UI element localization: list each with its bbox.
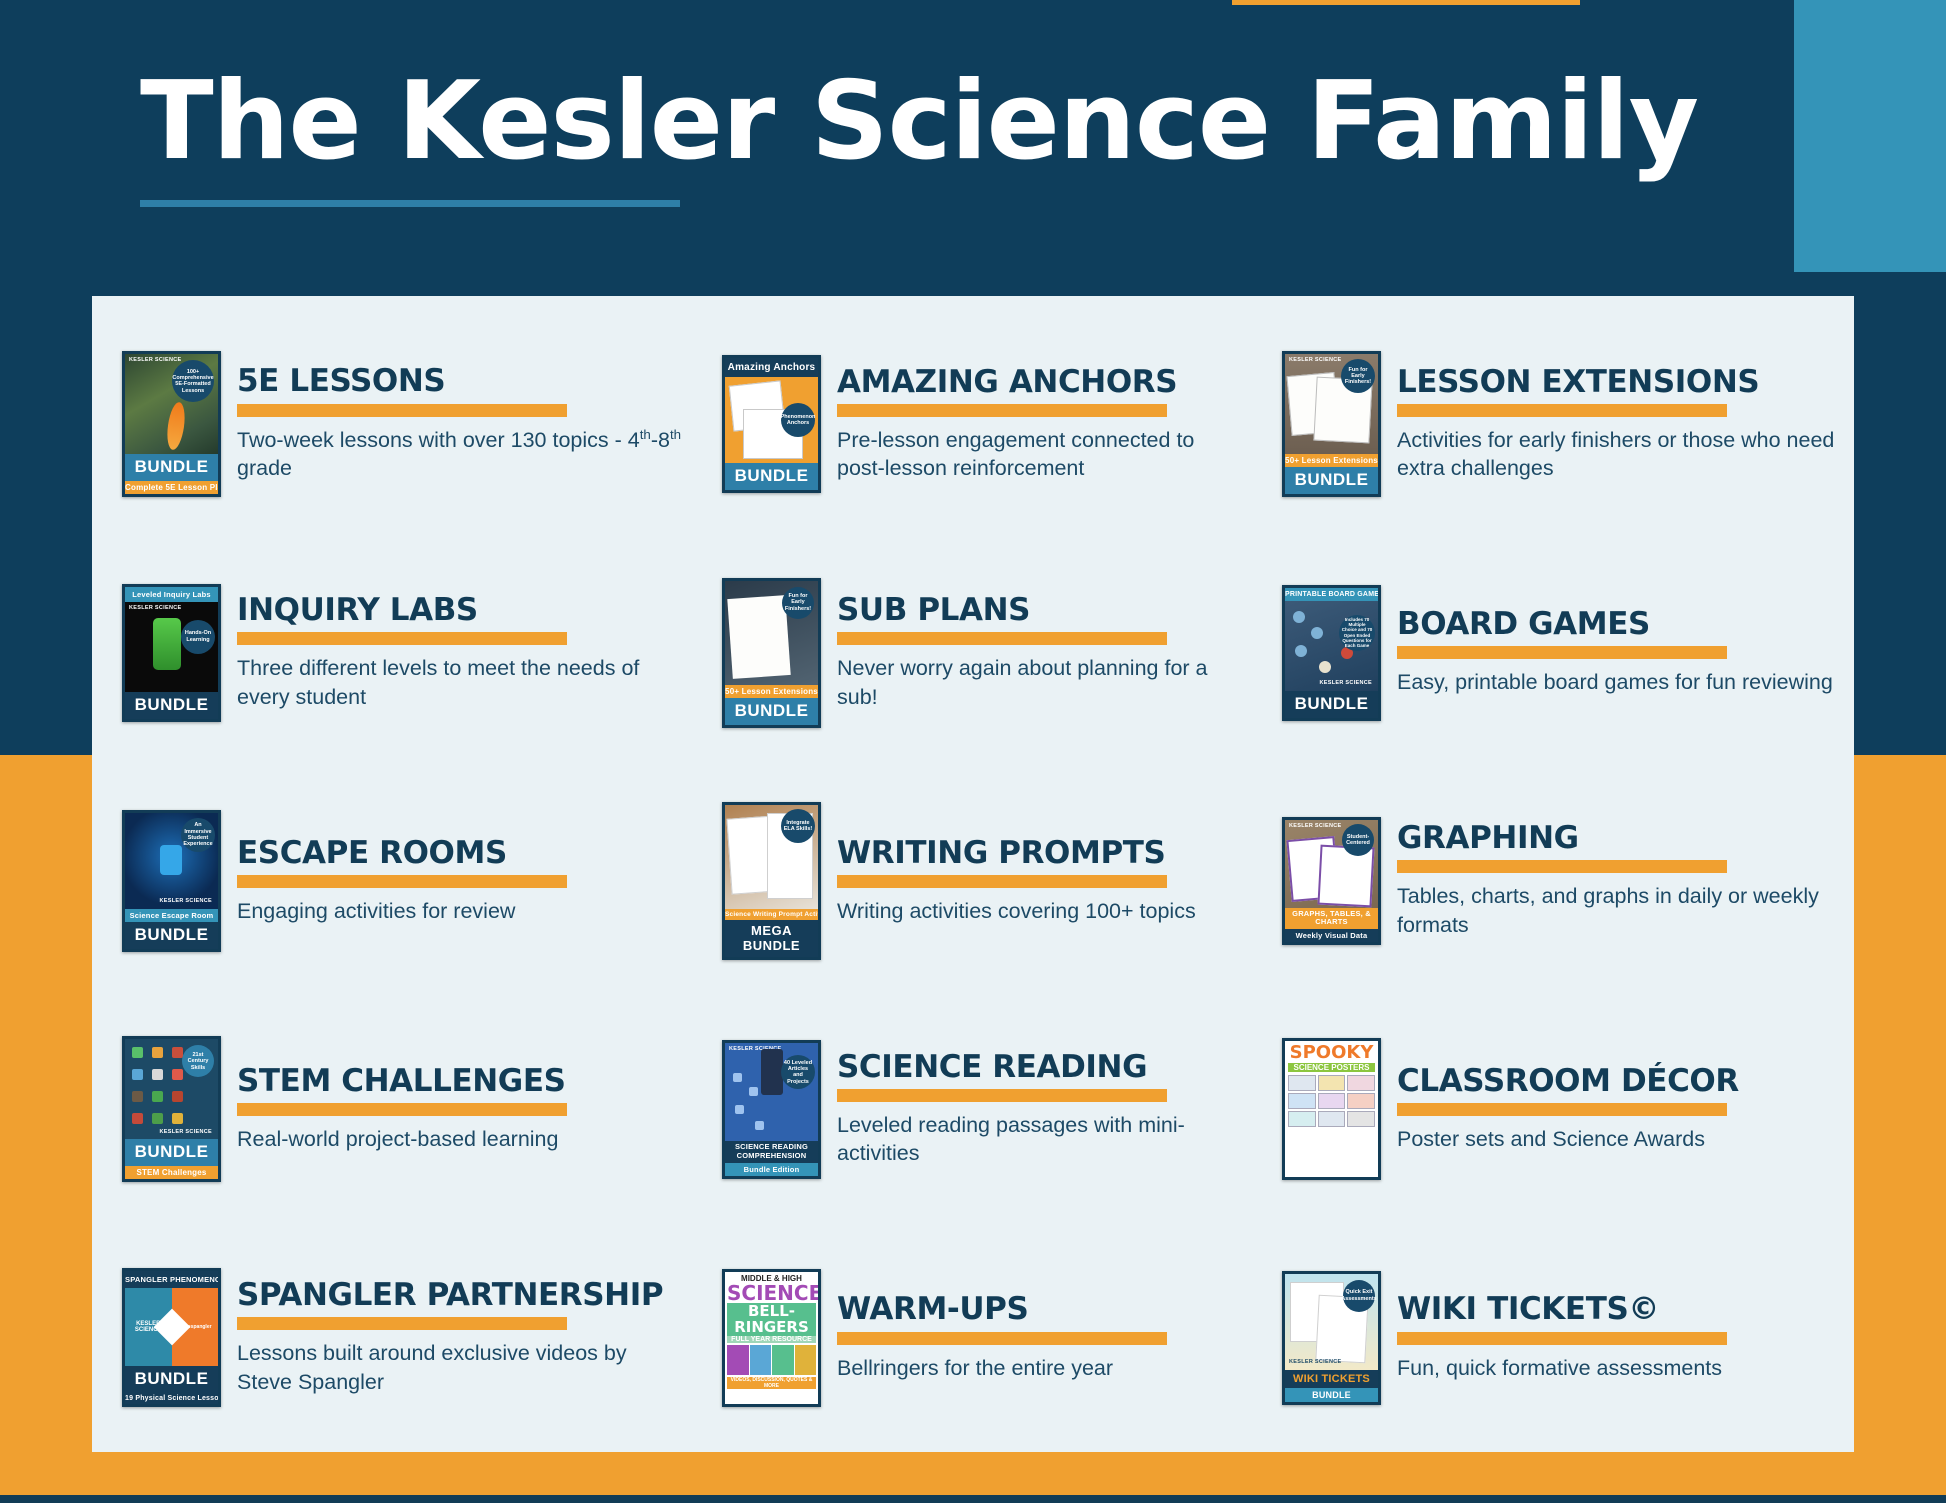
kesler-logo: KESLER SCIENCE xyxy=(1320,681,1373,687)
product-body: CLASSROOM DÉCOR Poster sets and Science … xyxy=(1381,1065,1846,1154)
thumbnail-bundle-label: BUNDLE xyxy=(125,922,218,949)
product-thumbnail: PRINTABLE BOARD GAME Includes 70 Multipl… xyxy=(1282,585,1381,721)
product-rule xyxy=(1397,1332,1727,1345)
thumbnail-badge: Hands-On Learning xyxy=(181,620,215,654)
bell-line-4: FULL YEAR RESOURCE xyxy=(727,1336,816,1343)
thumbnail-bundle-label: BUNDLE xyxy=(125,692,218,719)
product-title: WARM-UPS xyxy=(837,1293,1244,1326)
product-card-writing-prompts[interactable]: Integrate ELA Skills! Science Writing Pr… xyxy=(692,767,1252,995)
product-thumbnail: An Immersive Student Experience KESLER S… xyxy=(122,810,221,952)
product-rule xyxy=(1397,1103,1727,1116)
product-card-wiki-tickets[interactable]: Quick Exit Assessments KESLER SCIENCE WI… xyxy=(1252,1224,1854,1452)
poster-subtitle: SCIENCE POSTERS xyxy=(1288,1063,1375,1072)
product-card-graphing[interactable]: KESLER SCIENCE Student-Centered GRAPHS, … xyxy=(1252,767,1854,995)
product-body: SCIENCE READING Leveled reading passages… xyxy=(821,1051,1244,1168)
product-card-escape-rooms[interactable]: An Immersive Student Experience KESLER S… xyxy=(92,767,692,995)
thumbnail-top-caption: SPANGLER PHENOMENON xyxy=(125,1271,218,1288)
bell-footer: VIDEOS, DISCUSSION, QUOTES & MORE xyxy=(727,1377,816,1389)
title-underline xyxy=(140,200,680,207)
kesler-logo: KESLER SCIENCE xyxy=(1289,358,1342,364)
product-body: GRAPHING Tables, charts, and graphs in d… xyxy=(1381,822,1846,939)
product-description: Lessons built around exclusive videos by… xyxy=(237,1339,684,1396)
product-thumbnail: Fun for Early Finishers! 50+ Lesson Exte… xyxy=(722,578,821,728)
desc-sup-1: th xyxy=(640,427,651,442)
product-rule xyxy=(237,632,567,645)
product-thumbnail: KESLER SCIENCE 100+ Comprehensive 5E-For… xyxy=(122,351,221,497)
product-rule xyxy=(837,632,1167,645)
product-description: Fun, quick formative assessments xyxy=(1397,1354,1846,1383)
product-thumbnail: Amazing Anchors Phenomenon Anchors BUNDL… xyxy=(722,355,821,493)
thumbnail-art-anchors: Phenomenon Anchors xyxy=(725,377,818,463)
thumbnail-caption: 50+ Lesson Extensions xyxy=(725,685,818,698)
product-title: CLASSROOM DÉCOR xyxy=(1397,1065,1846,1098)
thumbnail-badge: Phenomenon Anchors xyxy=(781,403,815,437)
desc-part-1: Two-week lessons with over 130 topics - … xyxy=(237,428,640,452)
thumbnail-badge: Integrate ELA Skills! xyxy=(781,809,815,843)
product-description: Two-week lessons with over 130 topics - … xyxy=(237,426,684,483)
product-thumbnail: SPANGLER PHENOMENON KESLER SCIENCE steve… xyxy=(122,1268,221,1407)
product-description: Bellringers for the entire year xyxy=(837,1354,1244,1383)
kesler-logo: KESLER SCIENCE xyxy=(129,606,182,612)
product-description: Poster sets and Science Awards xyxy=(1397,1125,1846,1154)
thumbnail-caption: GRAPHS, TABLES, & CHARTS xyxy=(1285,908,1378,929)
thumbnail-art-poster: SPOOKY SCIENCE POSTERS xyxy=(1285,1041,1378,1177)
product-description: Never worry again about planning for a s… xyxy=(837,654,1244,711)
thumbnail-bundle-label: BUNDLE xyxy=(1285,467,1378,494)
product-description: Easy, printable board games for fun revi… xyxy=(1397,668,1846,697)
product-description: Pre-lesson engagement connected to post-… xyxy=(837,426,1244,483)
thumbnail-bundle-label: BUNDLE xyxy=(1285,691,1378,718)
product-rule xyxy=(1397,404,1727,417)
thumbnail-bundle-label: MEGA BUNDLE xyxy=(725,920,818,957)
kesler-logo: KESLER SCIENCE xyxy=(160,1130,213,1136)
product-body: WARM-UPS Bellringers for the entire year xyxy=(821,1293,1244,1382)
product-title: AMAZING ANCHORS xyxy=(837,366,1244,399)
thumbnail-caption: Science Escape Room xyxy=(125,909,218,922)
product-body: 5E LESSONS Two-week lessons with over 13… xyxy=(221,365,684,483)
thumbnail-bundle-label: Weekly Visual Data xyxy=(1285,929,1378,942)
thumbnail-art-escape: An Immersive Student Experience KESLER S… xyxy=(125,813,218,909)
desc-part-3: grade xyxy=(237,456,292,480)
thumbnail-badge: Fun for Early Finishers! xyxy=(782,587,814,619)
product-description: Tables, charts, and graphs in daily or w… xyxy=(1397,882,1846,939)
product-description: Leveled reading passages with mini-activ… xyxy=(837,1111,1244,1168)
thumbnail-badge: Includes 70 Multiple Choice and 70 Open … xyxy=(1339,615,1375,651)
background-orange-top-rule xyxy=(1232,0,1580,5)
product-title: 5E LESSONS xyxy=(237,365,684,398)
kesler-logo: KESLER SCIENCE xyxy=(160,899,213,905)
thumbnail-art-writing: Integrate ELA Skills! xyxy=(725,805,818,909)
product-rule xyxy=(237,875,567,888)
thumbnail-art-stem: 21st Century Skills KESLER SCIENCE xyxy=(125,1039,218,1139)
product-body: LESSON EXTENSIONS Activities for early f… xyxy=(1381,366,1846,483)
kesler-logo: KESLER SCIENCE xyxy=(1289,1360,1342,1366)
thumbnail-top-caption: Amazing Anchors xyxy=(725,358,818,377)
thumbnail-art-wiki: Quick Exit Assessments KESLER SCIENCE xyxy=(1285,1274,1378,1370)
thumbnail-badge: 100+ Comprehensive 5E-Formatted Lessons xyxy=(172,360,214,402)
product-rule xyxy=(237,1317,567,1330)
product-thumbnail: MIDDLE & HIGH SCIENCE BELL-RINGERS FULL … xyxy=(722,1269,821,1407)
bell-line-2: SCIENCE xyxy=(727,1283,816,1303)
product-title: SUB PLANS xyxy=(837,594,1244,627)
thumbnail-art-reading: KESLER SCIENCE 40 Leveled Articles and P… xyxy=(725,1043,818,1141)
product-description: Writing activities covering 100+ topics xyxy=(837,897,1244,926)
product-card-warm-ups[interactable]: MIDDLE & HIGH SCIENCE BELL-RINGERS FULL … xyxy=(692,1224,1252,1452)
thumbnail-art-board: Includes 70 Multiple Choice and 70 Open … xyxy=(1285,601,1378,691)
product-body: SPANGLER PARTNERSHIP Lessons built aroun… xyxy=(221,1279,684,1396)
thumbnail-top-caption: PRINTABLE BOARD GAME xyxy=(1285,588,1378,601)
thumbnail-bundle-label: BUNDLE xyxy=(725,463,818,490)
product-thumbnail: KESLER SCIENCE Fun for Early Finishers! … xyxy=(1282,351,1381,497)
product-thumbnail: 21st Century Skills KESLER SCIENCE BUNDL… xyxy=(122,1036,221,1182)
product-body: WRITING PROMPTS Writing activities cover… xyxy=(821,837,1244,926)
kesler-logo: KESLER SCIENCE xyxy=(1289,824,1342,830)
product-body: ESCAPE ROOMS Engaging activities for rev… xyxy=(221,837,684,926)
thumbnail-badge: Fun for Early Finishers! xyxy=(1341,359,1375,393)
product-card-5e-lessons[interactable]: KESLER SCIENCE 100+ Comprehensive 5E-For… xyxy=(92,310,692,538)
thumbnail-badge: Quick Exit Assessments xyxy=(1343,1280,1375,1312)
product-card-inquiry-labs[interactable]: Leveled Inquiry Labs KESLER SCIENCE Hand… xyxy=(92,538,692,766)
products-grid: KESLER SCIENCE 100+ Comprehensive 5E-For… xyxy=(92,296,1854,1452)
product-title: LESSON EXTENSIONS xyxy=(1397,366,1846,399)
thumbnail-bundle-label: BUNDLE xyxy=(725,698,818,725)
thumbnail-caption: 50+ Lesson Extensions xyxy=(1285,454,1378,467)
header: The Kesler Science Family xyxy=(140,68,1790,207)
product-body: STEM CHALLENGES Real-world project-based… xyxy=(221,1065,684,1154)
product-thumbnail: KESLER SCIENCE 40 Leveled Articles and P… xyxy=(722,1040,821,1178)
product-thumbnail: Leveled Inquiry Labs KESLER SCIENCE Hand… xyxy=(122,584,221,722)
product-rule xyxy=(837,404,1167,417)
product-body: INQUIRY LABS Three different levels to m… xyxy=(221,594,684,711)
product-title: GRAPHING xyxy=(1397,822,1846,855)
product-card-spangler-partnership[interactable]: SPANGLER PHENOMENON KESLER SCIENCE steve… xyxy=(92,1224,692,1452)
product-body: SUB PLANS Never worry again about planni… xyxy=(821,594,1244,711)
desc-part-2: -8 xyxy=(651,428,670,452)
poster-title: SPOOKY xyxy=(1288,1044,1375,1062)
thumbnail-art-wood: KESLER SCIENCE Fun for Early Finishers! xyxy=(1285,354,1378,454)
thumbnail-caption: STEM Challenges xyxy=(125,1166,218,1179)
thumbnail-art-anemone: KESLER SCIENCE 100+ Comprehensive 5E-For… xyxy=(125,354,218,454)
thumbnail-bundle-label: BUNDLE xyxy=(125,454,218,481)
product-card-sub-plans[interactable]: Fun for Early Finishers! 50+ Lesson Exte… xyxy=(692,538,1252,766)
product-card-board-games[interactable]: PRINTABLE BOARD GAME Includes 70 Multipl… xyxy=(1252,538,1854,766)
product-title: INQUIRY LABS xyxy=(237,594,684,627)
bell-line-3: BELL-RINGERS xyxy=(727,1303,816,1336)
product-title: BOARD GAMES xyxy=(1397,608,1846,641)
thumbnail-bundle-label: BUNDLE xyxy=(1285,1388,1378,1402)
product-rule xyxy=(837,1332,1167,1345)
page-title: The Kesler Science Family xyxy=(140,68,1790,176)
product-thumbnail: Integrate ELA Skills! Science Writing Pr… xyxy=(722,802,821,960)
thumbnail-art-spangler: KESLER SCIENCE stevespangler xyxy=(125,1288,218,1366)
product-title: WRITING PROMPTS xyxy=(837,837,1244,870)
product-card-stem-challenges[interactable]: 21st Century Skills KESLER SCIENCE BUNDL… xyxy=(92,995,692,1223)
product-rule xyxy=(837,875,1167,888)
product-card-science-reading[interactable]: KESLER SCIENCE 40 Leveled Articles and P… xyxy=(692,995,1252,1223)
thumbnail-caption: Science Writing Prompt Activities xyxy=(725,909,818,920)
thumbnail-badge: 21st Century Skills xyxy=(182,1045,214,1077)
product-card-classroom-decor[interactable]: SPOOKY SCIENCE POSTERS xyxy=(1252,995,1854,1223)
background-navy-footer-strip xyxy=(0,1495,1946,1503)
product-thumbnail: Quick Exit Assessments KESLER SCIENCE WI… xyxy=(1282,1271,1381,1405)
thumbnail-art-subplans: Fun for Early Finishers! xyxy=(725,581,818,685)
thumbnail-caption: Complete 5E Lesson Plans xyxy=(125,481,218,494)
product-body: AMAZING ANCHORS Pre-lesson engagement co… xyxy=(821,366,1244,483)
product-rule xyxy=(1397,646,1727,659)
product-thumbnail: KESLER SCIENCE Student-Centered GRAPHS, … xyxy=(1282,817,1381,945)
product-rule xyxy=(837,1089,1167,1102)
product-title: SCIENCE READING xyxy=(837,1051,1244,1084)
product-description: Engaging activities for review xyxy=(237,897,684,926)
thumbnail-top-caption: Leveled Inquiry Labs xyxy=(125,587,218,602)
product-rule xyxy=(237,1103,567,1116)
thumbnail-art-labs: KESLER SCIENCE Hands-On Learning xyxy=(125,602,218,692)
thumbnail-art-graphing: KESLER SCIENCE Student-Centered xyxy=(1285,820,1378,908)
product-description: Real-world project-based learning xyxy=(237,1125,684,1154)
thumbnail-caption: WIKI TICKETS xyxy=(1285,1370,1378,1388)
kesler-logo: KESLER SCIENCE xyxy=(129,358,182,364)
thumbnail-bundle-label: BUNDLE xyxy=(125,1366,218,1393)
background-teal-block xyxy=(1794,0,1946,272)
product-rule xyxy=(1397,860,1727,873)
product-description: Activities for early finishers or those … xyxy=(1397,426,1846,483)
thumbnail-badge: An Immersive Student Experience xyxy=(181,818,215,852)
product-body: BOARD GAMES Easy, printable board games … xyxy=(1381,608,1846,697)
thumbnail-bundle-label: BUNDLE xyxy=(125,1139,218,1166)
thumbnail-caption: 19 Physical Science Lessons xyxy=(125,1393,218,1404)
product-body: WIKI TICKETS© Fun, quick formative asses… xyxy=(1381,1293,1846,1382)
products-panel: KESLER SCIENCE 100+ Comprehensive 5E-For… xyxy=(92,296,1854,1452)
product-rule xyxy=(237,404,567,417)
product-title: STEM CHALLENGES xyxy=(237,1065,684,1098)
product-description: Three different levels to meet the needs… xyxy=(237,654,684,711)
thumbnail-caption: SCIENCE READING COMPREHENSION xyxy=(725,1141,818,1162)
product-card-lesson-extensions[interactable]: KESLER SCIENCE Fun for Early Finishers! … xyxy=(1252,310,1854,538)
product-title: SPANGLER PARTNERSHIP xyxy=(237,1279,684,1312)
thumbnail-bundle-label: Bundle Edition xyxy=(725,1163,818,1176)
thumbnail-badge: 40 Leveled Articles and Projects xyxy=(781,1055,815,1089)
desc-sup-2: th xyxy=(670,427,681,442)
thumbnail-art-bellringers: MIDDLE & HIGH SCIENCE BELL-RINGERS FULL … xyxy=(725,1272,818,1404)
product-title: WIKI TICKETS© xyxy=(1397,1293,1846,1326)
product-thumbnail: SPOOKY SCIENCE POSTERS xyxy=(1282,1038,1381,1180)
thumbnail-badge: Student-Centered xyxy=(1342,824,1374,856)
product-title: ESCAPE ROOMS xyxy=(237,837,684,870)
product-card-amazing-anchors[interactable]: Amazing Anchors Phenomenon Anchors BUNDL… xyxy=(692,310,1252,538)
